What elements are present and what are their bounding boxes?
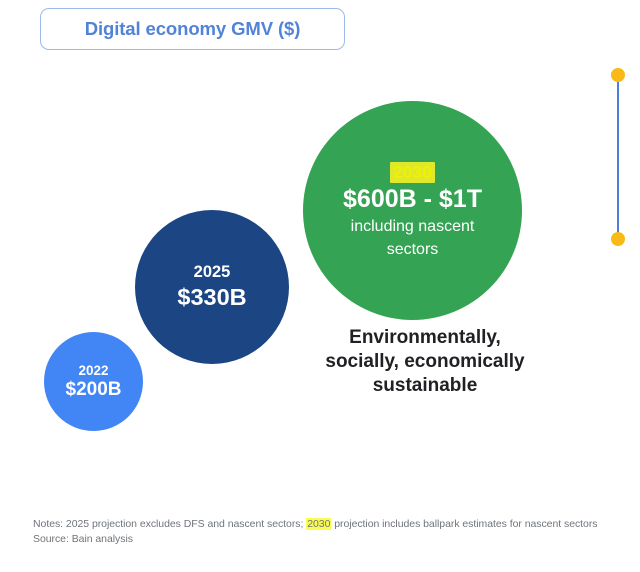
bubble-2025[interactable]: 2025 $330B: [135, 210, 289, 364]
bubble-2022-year: 2022: [78, 363, 108, 379]
footnotes: Notes: 2025 projection excludes DFS and …: [33, 517, 633, 547]
slider-handle-bottom[interactable]: [611, 232, 625, 246]
bubble-2030-value: $600B - $1T: [343, 185, 482, 213]
slide-canvas: Digital economy GMV ($) 2022 $200B 2025 …: [0, 0, 640, 572]
bubble-2022[interactable]: 2022 $200B: [44, 332, 143, 431]
vertical-range-slider[interactable]: [611, 66, 625, 248]
bubble-2030-year-wrap: 2030: [387, 162, 438, 182]
bubble-2030-year: 2030: [390, 162, 435, 183]
bubble-2030[interactable]: 2030 $600B - $1T including nascent secto…: [303, 101, 522, 320]
footnote-source: Source: Bain analysis: [33, 532, 633, 547]
caption-line-3: sustainable: [300, 374, 550, 398]
sustainability-caption: Environmentally, socially, economically …: [300, 326, 550, 398]
slider-track[interactable]: [617, 74, 619, 240]
bubble-2025-value: $330B: [177, 284, 246, 310]
footnote-notes-suffix: projection includes ballpark estimates f…: [331, 518, 597, 530]
page-title: Digital economy GMV ($): [85, 18, 301, 40]
bubble-2030-sub-line2: sectors: [387, 240, 439, 259]
caption-line-1: Environmentally,: [300, 326, 550, 350]
footnote-notes-highlight: 2030: [306, 518, 331, 530]
slide-title-pill[interactable]: Digital economy GMV ($): [40, 8, 345, 50]
slider-handle-top[interactable]: [611, 68, 625, 82]
caption-line-2: socially, economically: [300, 350, 550, 374]
bubble-2025-year: 2025: [194, 263, 231, 282]
bubble-2022-value: $200B: [66, 379, 122, 400]
footnote-notes: Notes: 2025 projection excludes DFS and …: [33, 517, 633, 532]
bubble-2030-sub-line1: including nascent: [351, 217, 475, 236]
footnote-notes-prefix: Notes: 2025 projection excludes DFS and …: [33, 518, 306, 530]
